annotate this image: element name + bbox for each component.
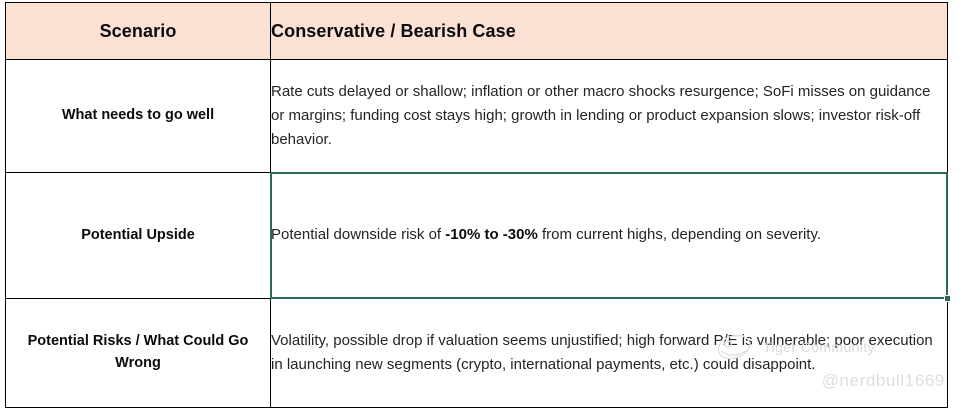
row-content-cell[interactable]: Volatility, possible drop if valuation s… xyxy=(271,299,948,408)
table-row: What needs to go well Rate cuts delayed … xyxy=(6,60,948,173)
row-content-cell[interactable]: Rate cuts delayed or shallow; inflation … xyxy=(271,60,948,173)
column-header-case[interactable]: Conservative / Bearish Case xyxy=(271,3,948,60)
scenario-table: Scenario Conservative / Bearish Case Wha… xyxy=(5,2,948,408)
row-content-segment-tail: from current highs, depending on severit… xyxy=(538,226,821,243)
column-header-scenario-label: Scenario xyxy=(100,21,177,41)
row-content-text: Volatility, possible drop if valuation s… xyxy=(271,329,947,378)
row-label-text: Potential Risks / What Could Go Wrong xyxy=(6,331,270,375)
row-label-cell[interactable]: Potential Upside xyxy=(6,173,271,299)
fill-handle[interactable] xyxy=(944,295,951,302)
row-label-text: Potential Upside xyxy=(6,225,270,247)
row-content-segment-bold: -10% to -30% xyxy=(445,226,538,243)
table-header-row: Scenario Conservative / Bearish Case xyxy=(6,3,948,60)
spreadsheet-surface: Scenario Conservative / Bearish Case Wha… xyxy=(0,0,963,419)
row-content-text: Rate cuts delayed or shallow; inflation … xyxy=(271,80,947,153)
column-header-case-label: Conservative / Bearish Case xyxy=(271,21,516,41)
column-header-scenario[interactable]: Scenario xyxy=(6,3,271,60)
row-label-cell[interactable]: What needs to go well xyxy=(6,60,271,173)
table-body: What needs to go well Rate cuts delayed … xyxy=(6,60,948,408)
row-label-text: What needs to go well xyxy=(6,105,270,127)
row-content-segment-plain: Rate cuts delayed or shallow; inflation … xyxy=(271,83,931,149)
row-label-cell[interactable]: Potential Risks / What Could Go Wrong xyxy=(6,299,271,408)
row-content-segment-plain: Potential downside risk of xyxy=(271,226,445,243)
table-header: Scenario Conservative / Bearish Case xyxy=(6,3,948,60)
row-content-segment-plain: Volatility, possible drop if valuation s… xyxy=(271,332,933,373)
table-row: Potential Upside Potential downside risk… xyxy=(6,173,948,299)
row-content-text: Potential downside risk of -10% to -30% … xyxy=(271,223,947,247)
row-content-cell-selected[interactable]: Potential downside risk of -10% to -30% … xyxy=(271,173,948,299)
table-row: Potential Risks / What Could Go Wrong Vo… xyxy=(6,299,948,408)
